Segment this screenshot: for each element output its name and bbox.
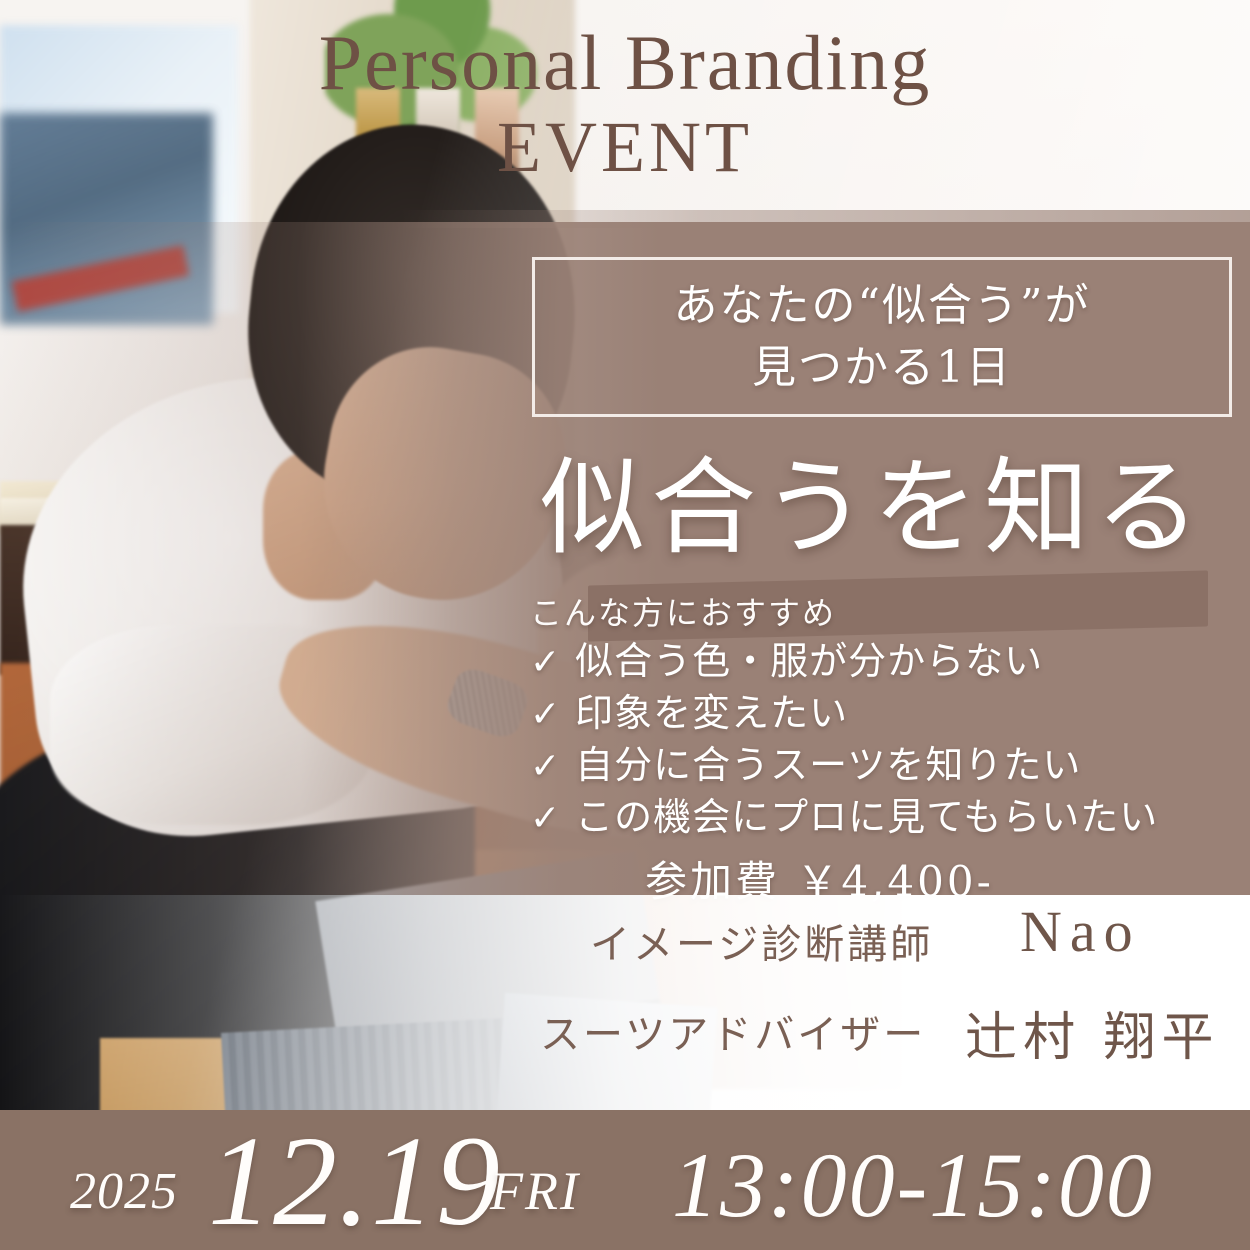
date-month-day: 12.19 [208,1108,501,1250]
date-day-of-week: FRI [490,1160,580,1222]
title-line-2: EVENT [0,106,1250,188]
list-item-label: 似合う色・服が分からない [575,636,1043,686]
headline: 似合うを知る [540,452,1240,564]
check-icon: ✓ [530,794,561,844]
list-item: ✓ この機会にプロに見てもらいたい [530,792,1230,844]
recommend-label: こんな方におすすめ [530,588,836,634]
speaker-name-2: 辻村 翔平 [965,995,1220,1070]
list-item-label: この機会にプロに見てもらいたい [575,792,1158,842]
event-time: 13:00-15:00 [672,1132,1154,1238]
speaker-role-2: スーツアドバイザー [540,1002,926,1060]
date-bar-content: 2025 12.19 FRI 13:00-15:00 [0,1110,1250,1250]
list-item: ✓ 印象を変えたい [530,688,1230,740]
list-item: ✓ 自分に合うスーツを知りたい [530,740,1230,792]
list-item-label: 自分に合うスーツを知りたい [575,740,1081,790]
list-item: ✓ 似合う色・服が分からない [530,636,1230,688]
date-year: 2025 [70,1162,178,1221]
list-item-label: 印象を変えたい [575,688,848,738]
title-line-1: Personal Branding [0,20,1250,106]
speaker-role-1: イメージ診断講師 [590,912,933,970]
page-title: Personal Branding EVENT [0,20,1250,188]
check-icon: ✓ [530,742,561,792]
speaker-name-1: Nao [1020,898,1141,965]
check-icon: ✓ [530,638,561,688]
subtitle-line-1: あなたの“似合う”が [674,275,1091,337]
check-icon: ✓ [530,690,561,740]
subtitle-line-2: 見つかる1日 [752,337,1012,399]
subtitle-box: あなたの“似合う”が 見つかる1日 [532,257,1232,417]
event-poster: Personal Branding EVENT あなたの“似合う”が 見つかる1… [0,0,1250,1250]
recommend-list: ✓ 似合う色・服が分からない ✓ 印象を変えたい ✓ 自分に合うスーツを知りたい… [530,636,1230,844]
